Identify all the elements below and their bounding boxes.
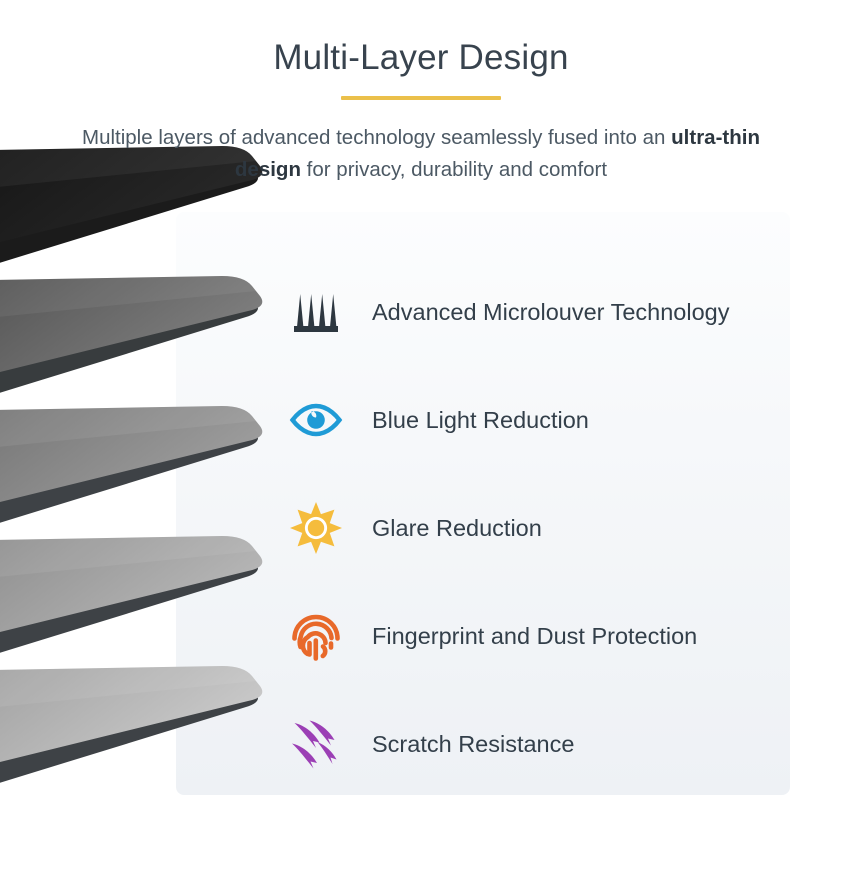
feature-label-glare: Glare Reduction [372,514,542,542]
subtitle-line-2: for privacy, durability and comfort [301,158,607,181]
microlouver-icon [288,284,344,340]
feature-row-microlouver: Advanced Microlouver Technology [288,258,788,366]
page-title: Multi-Layer Design [0,0,842,78]
eye-icon [288,392,344,448]
feature-row-blue-light: Blue Light Reduction [288,366,788,474]
header: Multi-Layer Design Multiple layers of ad… [0,0,842,186]
title-underline-rule [341,96,501,100]
feature-row-glare: Glare Reduction [288,474,788,582]
subtitle-line-1: Multiple layers of advanced technology s… [82,126,665,149]
sun-icon [288,500,344,556]
claw-scratch-icon [288,716,344,772]
feature-label-fingerprint: Fingerprint and Dust Protection [372,622,697,650]
feature-row-scratch: Scratch Resistance [288,690,788,798]
feature-label-scratch: Scratch Resistance [372,730,574,758]
feature-list: Advanced Microlouver Technology Blue Lig… [288,258,788,798]
feature-label-microlouver: Advanced Microlouver Technology [372,298,730,326]
feature-row-fingerprint: Fingerprint and Dust Protection [288,582,788,690]
fingerprint-icon [288,608,344,664]
feature-label-blue-light: Blue Light Reduction [372,406,589,434]
subtitle: Multiple layers of advanced technology s… [71,122,771,186]
